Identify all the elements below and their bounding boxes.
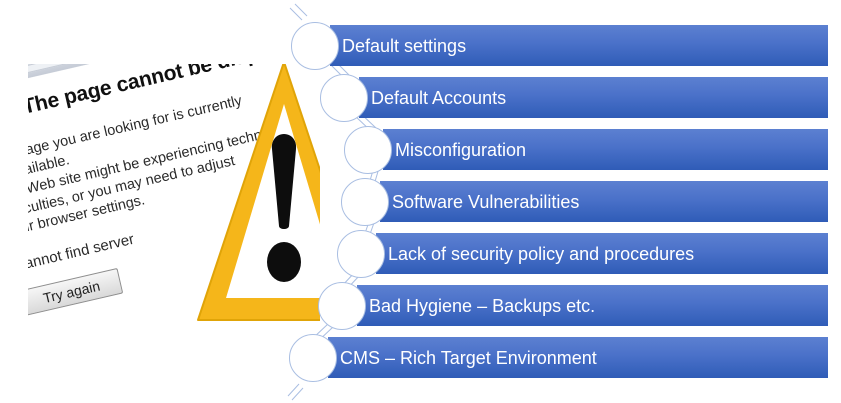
list-item-bullet-circle[interactable] (320, 74, 368, 122)
list-item-label: Software Vulnerabilities (392, 193, 579, 211)
list-item[interactable]: Software Vulnerabilities (0, 181, 841, 222)
list-item-bullet-circle[interactable] (318, 282, 366, 330)
list-item-bullet-circle[interactable] (289, 334, 337, 382)
list-item-bullet-circle[interactable] (291, 22, 339, 70)
list-item-label: Default settings (342, 37, 466, 55)
vulnerability-list: Default settings Default Accounts Miscon… (0, 0, 841, 403)
list-item-label: CMS – Rich Target Environment (340, 349, 597, 367)
list-item[interactable]: CMS – Rich Target Environment (0, 337, 841, 378)
list-item-bar[interactable]: Default Accounts (359, 77, 828, 118)
list-item[interactable]: Default Accounts (0, 77, 841, 118)
list-item-bar[interactable]: Misconfiguration (383, 129, 828, 170)
list-item-bar[interactable]: CMS – Rich Target Environment (328, 337, 828, 378)
list-item-bullet-circle[interactable] (337, 230, 385, 278)
list-item-label: Bad Hygiene – Backups etc. (369, 297, 595, 315)
list-item-bar[interactable]: Software Vulnerabilities (380, 181, 828, 222)
list-item-bar[interactable]: Default settings (330, 25, 828, 66)
slide-canvas: The page cannot be displayed The page yo… (0, 0, 841, 403)
list-item-label: Default Accounts (371, 89, 506, 107)
list-item[interactable]: Lack of security policy and procedures (0, 233, 841, 274)
list-item[interactable]: Bad Hygiene – Backups etc. (0, 285, 841, 326)
list-item-label: Lack of security policy and procedures (388, 245, 694, 263)
list-item[interactable]: Default settings (0, 25, 841, 66)
list-item-bullet-circle[interactable] (341, 178, 389, 226)
list-item-bar[interactable]: Bad Hygiene – Backups etc. (357, 285, 828, 326)
list-item-bullet-circle[interactable] (344, 126, 392, 174)
list-item-bar[interactable]: Lack of security policy and procedures (376, 233, 828, 274)
list-item[interactable]: Misconfiguration (0, 129, 841, 170)
list-item-label: Misconfiguration (395, 141, 526, 159)
